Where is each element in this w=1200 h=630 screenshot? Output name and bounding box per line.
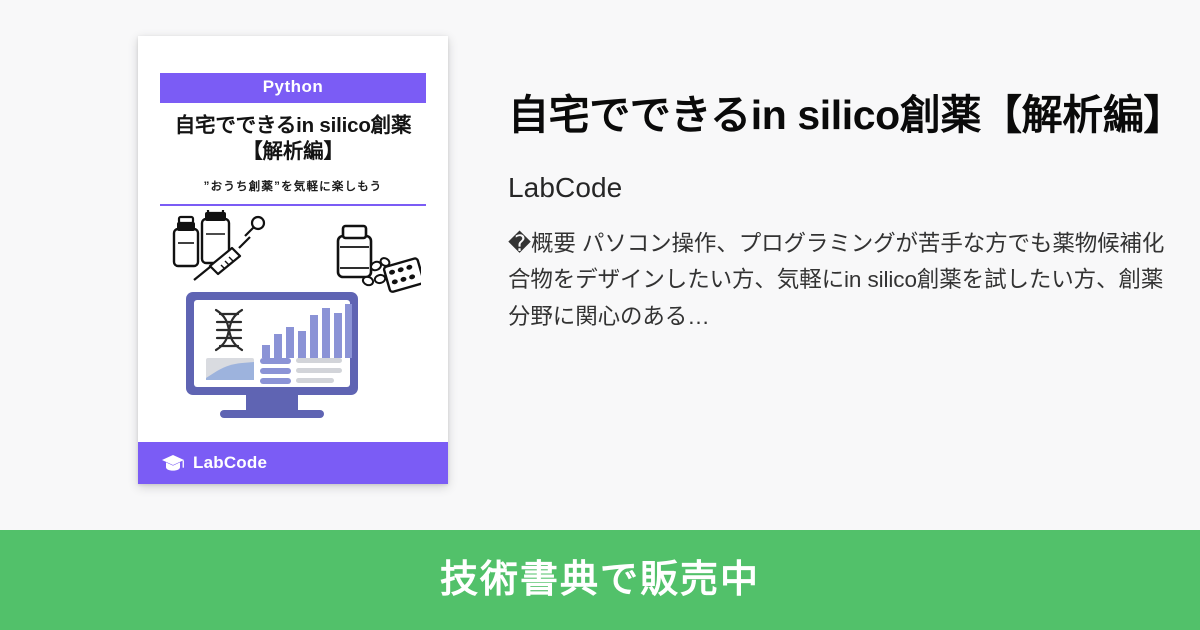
sales-banner-label: 技術書典で販売中 [440, 561, 760, 599]
book-cover-brand-label: LabCode [193, 453, 267, 473]
book-cover-illustrations [138, 204, 448, 436]
og-card: Python 自宅でできるin silico創薬 【解析編】 ”おうち創薬”を気… [0, 0, 1200, 630]
python-badge: Python [160, 73, 426, 103]
page-title: 自宅でできるin silico創薬【解析編】 [508, 88, 1168, 142]
text-column: 自宅でできるin silico創薬【解析編】 LabCode �概要 パソコン操… [508, 88, 1168, 335]
sales-banner: 技術書典で販売中 [0, 530, 1200, 630]
book-cover: Python 自宅でできるin silico創薬 【解析編】 ”おうち創薬”を気… [138, 36, 448, 484]
site-name: LabCode [508, 171, 1168, 205]
book-cover-title: 自宅でできるin silico創薬 【解析編】 [160, 113, 426, 165]
vials-and-syringe-icon [166, 210, 284, 293]
book-cover-subtitle: ”おうち創薬”を気軽に楽しもう [160, 178, 426, 194]
graduation-cap-icon [162, 455, 184, 472]
book-cover-title-line2: 【解析編】 [160, 139, 426, 165]
page-description: �概要 パソコン操作、プログラミングが苦手な方でも薬物候補化合物をデザインしたい… [508, 226, 1168, 335]
book-cover-footer: LabCode [138, 442, 448, 484]
book-cover-title-line1: 自宅でできるin silico創薬 [175, 114, 412, 137]
book-cover-image: Python 自宅でできるin silico創薬 【解析編】 ”おうち創薬”を気… [138, 36, 448, 484]
monitor-with-dna-and-bar-chart-icon [184, 290, 360, 427]
